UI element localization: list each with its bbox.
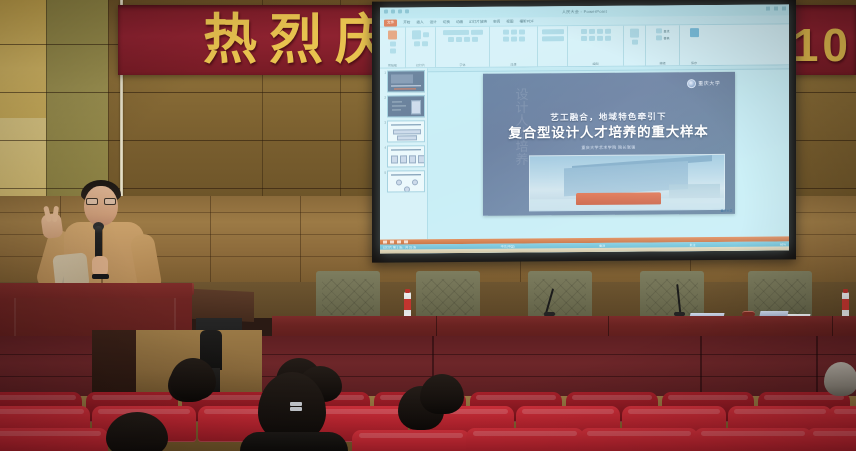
slide-photo-caption: 重庆大学 [720,209,732,213]
tab-home[interactable]: 开始 [403,20,410,25]
auditorium-seat [0,428,108,451]
ribbon-group-font[interactable]: 字体 [436,27,490,67]
arrange-icon[interactable] [630,29,639,38]
reset-icon[interactable] [414,41,420,46]
tab-transitions[interactable]: 切换 [443,20,450,25]
slide-thumbnail[interactable]: 3 [382,120,425,142]
ribbon-group-clipboard[interactable]: 剪贴板 [380,27,406,67]
ribbon-group-save-label: 保存 [680,61,708,65]
tab-animations[interactable]: 动画 [456,19,463,24]
auditorium-seat [466,428,584,451]
italic-icon[interactable] [456,37,462,42]
projected-image: 人民大会 - PowerPoint 文件 开始 插入 设计 切换 动画 幻灯片放… [380,4,789,253]
audience-head [170,358,216,400]
ribbon-group-slides-label: 幻灯片 [406,63,435,67]
head-table-chair [416,271,480,319]
slide-editing-stage[interactable]: 设计人才培养 重庆大学 艺工融合，地域特色牵引下 复合型设计人才培养的重大样本 … [428,65,789,239]
tab-design[interactable]: 设计 [430,20,437,25]
close-icon[interactable] [782,6,786,10]
ribbon-group-editing-label: 编辑 [646,61,679,65]
tab-review[interactable]: 审阅 [493,19,500,24]
ribbon-group-save[interactable]: 保存 [680,25,708,65]
convert-smartart-icon[interactable] [542,29,564,34]
lecture-hall-photo: 热烈庆 :10 人民大会 - PowerPoint [0,0,856,451]
auditorium-seat [694,428,812,451]
hair-clip [290,402,302,406]
doorway-dark [92,330,138,396]
auditorium-seat [580,428,698,451]
section-icon[interactable] [422,41,428,46]
slide-thumbnail-image[interactable] [387,170,425,192]
photo-red-structure [576,192,661,205]
slide-thumbnail-image[interactable] [387,70,425,92]
slide-title: 复合型设计人才培养的重大样本 [483,124,735,142]
cloud-save-icon[interactable] [690,28,699,37]
save-icon[interactable] [384,10,388,14]
align-center-icon[interactable] [511,37,517,42]
water-bottle [842,292,849,318]
shape-callout-icon[interactable] [597,36,603,41]
tab-slideshow[interactable]: 幻灯片放映 [469,19,487,24]
slide-thumbnail[interactable]: 2 [382,95,425,117]
audience-head [420,374,464,414]
bottle-label [404,299,411,310]
shape-more-icon[interactable] [605,36,611,41]
speaker-right-hand [92,256,108,276]
university-logo-name: 重庆大学 [698,80,720,87]
new-slide-icon[interactable] [412,30,421,39]
font-name-box[interactable] [443,30,469,35]
slide-thumbnail-panel[interactable]: 1 2 [380,68,428,239]
slide-byline: 重庆大学艺术学院 院长张强 [483,144,735,152]
university-logo: 重庆大学 [687,79,720,88]
slide-thumbnail[interactable]: 4 [382,145,425,167]
shape-line-icon[interactable] [589,29,595,34]
slide-thumbnail-image[interactable] [387,95,425,117]
maximize-icon[interactable] [774,6,778,10]
powerpoint-statusbar: 幻灯片 第 1 张，共 25 张 中文(中国) 备注 批注 66% [380,236,789,253]
tab-view[interactable]: 视图 [506,19,513,24]
ribbon-group-editing[interactable]: 查找 替换 编辑 [646,25,680,65]
underline-icon[interactable] [464,37,470,42]
copy-icon[interactable] [390,48,396,53]
layout-icon[interactable] [423,32,429,37]
handheld-microphone [95,226,102,260]
sb-icon-3[interactable] [397,240,401,243]
sb-icon-2[interactable] [390,240,394,243]
ribbon[interactable]: 剪贴板 幻灯片 字体 段落 [380,24,789,68]
ribbon-group-clipboard-label: 剪贴板 [380,63,405,67]
align-right-icon[interactable] [519,36,525,41]
ribbon-group-paragraph[interactable]: 段落 [490,26,538,66]
window-title: 人民大会 - PowerPoint [562,8,607,14]
bold-icon[interactable] [448,37,454,42]
indent-icon[interactable] [519,29,525,34]
audience-head [824,362,856,396]
current-slide[interactable]: 设计人才培养 重庆大学 艺工融合，地域特色牵引下 复合型设计人才培养的重大样本 … [483,72,735,216]
quick-styles-icon[interactable] [632,40,638,45]
present-icon[interactable] [405,9,409,13]
shape-triangle-icon[interactable] [581,36,587,41]
projection-screen: 人民大会 - PowerPoint 文件 开始 插入 设计 切换 动画 幻灯片放… [372,0,796,263]
ribbon-group-drawing-label: 绘图 [568,62,623,66]
minimize-icon[interactable] [766,7,770,11]
ribbon-group-drawing[interactable]: 绘图 [568,26,624,66]
numbering-icon[interactable] [511,30,517,35]
powerpoint-window: 人民大会 - PowerPoint 文件 开始 插入 设计 切换 动画 幻灯片放… [380,4,789,253]
find-label: 查找 [663,29,669,33]
font-size-box[interactable] [471,30,483,35]
undo-icon[interactable] [391,9,395,13]
speaker-head [84,186,118,226]
ribbon-group-font-label: 字体 [436,63,489,67]
tab-file[interactable]: 文件 [384,19,397,26]
head-table-chair [528,271,592,319]
auditorium-seat [352,430,470,451]
replace-icon[interactable] [656,35,662,40]
slide-watermark: 设计人才培养 [495,87,529,199]
window-controls[interactable] [766,6,786,10]
find-icon[interactable] [656,28,662,33]
shape-rect-icon[interactable] [581,29,587,34]
text-direction-icon[interactable] [542,36,564,41]
bottle-cap [843,289,848,293]
ribbon-group-arrange[interactable] [624,26,646,66]
head-table-chair [316,271,380,319]
redo-icon[interactable] [398,9,402,13]
ribbon-group-smartart[interactable] [538,26,568,66]
auditorium-seat [806,428,856,451]
wall-vertical-seam-2 [108,0,109,196]
glasses-icon [86,198,116,205]
replace-label: 替换 [663,36,669,40]
align-left-icon[interactable] [503,37,509,42]
shape-oval-icon[interactable] [605,29,611,34]
bullets-icon[interactable] [503,30,509,35]
powerpoint-body: 1 2 [380,65,789,239]
slide-thumbnail-image[interactable] [387,145,425,167]
speaker-gesture-fingers [45,206,59,222]
sb-icon-4[interactable] [404,240,408,243]
head-table-chair [640,271,704,319]
shape-star-icon[interactable] [589,36,595,41]
tab-insert[interactable]: 插入 [416,20,423,25]
slide-thumbnail[interactable]: 5 [382,170,425,192]
university-seal-icon [687,79,696,88]
cut-icon[interactable] [390,41,396,46]
slide-thumbnail[interactable]: 1 [382,70,425,92]
wristwatch [92,274,109,279]
tab-foxit-pdf[interactable]: 福昕PDF [519,19,533,24]
bottle-cap [405,289,410,293]
bottle-label [842,299,849,310]
slide-photo [529,154,725,212]
paste-icon[interactable] [388,30,397,39]
shape-arrow-icon[interactable] [597,29,603,34]
slide-subtitle: 艺工融合，地域特色牵引下 [483,110,735,124]
audience-shoulders [240,432,348,451]
quick-access-toolbar[interactable] [384,9,409,13]
ribbon-group-slides[interactable]: 幻灯片 [406,27,436,67]
water-bottle [404,292,411,318]
ribbon-group-paragraph-label: 段落 [490,62,537,66]
font-color-icon[interactable] [472,37,478,42]
wall-vertical-seam-1 [46,0,47,196]
sb-icon-1[interactable] [383,241,387,244]
slide-thumbnail-image[interactable] [387,120,425,142]
